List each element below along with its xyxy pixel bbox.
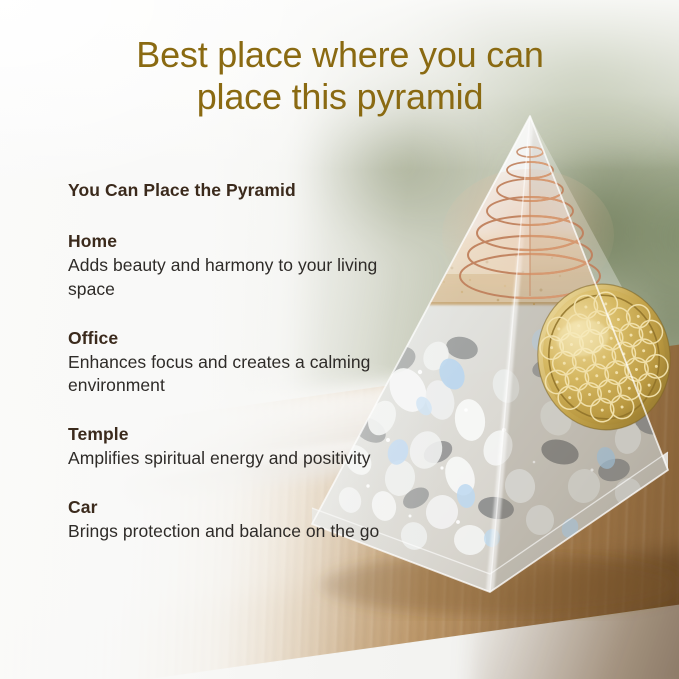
list-item-desc-home: Adds beauty and harmony to your living s… bbox=[68, 254, 398, 302]
list-item-title-temple: Temple bbox=[68, 424, 398, 445]
list-item-title-office: Office bbox=[68, 328, 398, 349]
list-item: Temple Amplifies spiritual energy and po… bbox=[68, 424, 398, 471]
list-intro-heading: You Can Place the Pyramid bbox=[68, 180, 398, 201]
placement-list: You Can Place the Pyramid Home Adds beau… bbox=[68, 180, 398, 544]
product-infographic: Best place where you can place this pyra… bbox=[0, 0, 679, 679]
list-item-desc-office: Enhances focus and creates a calming env… bbox=[68, 351, 398, 399]
page-title: Best place where you can place this pyra… bbox=[52, 34, 628, 118]
list-item: Home Adds beauty and harmony to your liv… bbox=[68, 231, 398, 302]
list-item-title-car: Car bbox=[68, 497, 398, 518]
list-item-desc-car: Brings protection and balance on the go bbox=[68, 520, 398, 544]
list-item-desc-temple: Amplifies spiritual energy and positivit… bbox=[68, 447, 398, 471]
list-item-title-home: Home bbox=[68, 231, 398, 252]
list-item: Office Enhances focus and creates a calm… bbox=[68, 328, 398, 399]
list-item: Car Brings protection and balance on the… bbox=[68, 497, 398, 544]
